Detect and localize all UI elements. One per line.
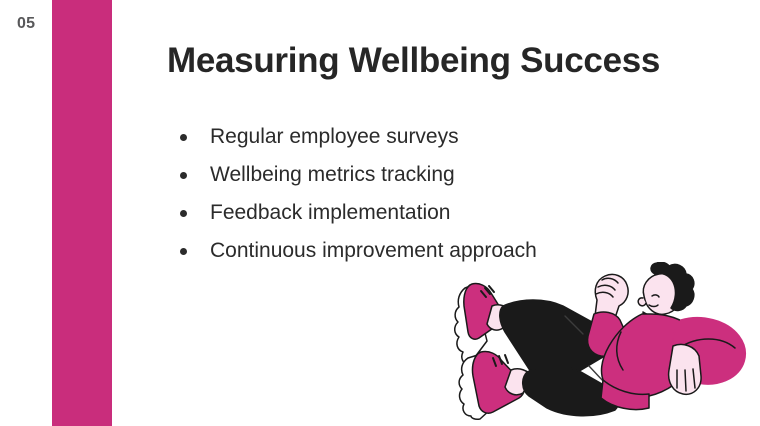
list-item-label: Regular employee surveys — [210, 125, 459, 148]
list-item: Wellbeing metrics tracking — [172, 156, 537, 194]
bullet-dot-icon — [180, 134, 187, 141]
page-title: Measuring Wellbeing Success — [167, 39, 660, 83]
list-item-label: Continuous improvement approach — [210, 239, 537, 262]
list-item: Regular employee surveys — [172, 118, 537, 156]
resting-hand — [669, 344, 701, 394]
list-item-label: Feedback implementation — [210, 201, 450, 224]
bullet-dot-icon — [180, 172, 187, 179]
bullet-dot-icon — [180, 248, 187, 255]
bullet-dot-icon — [180, 210, 187, 217]
bullet-list: Regular employee surveys Wellbeing metri… — [172, 118, 537, 270]
accent-bar — [52, 0, 112, 426]
reclining-person-illustration — [443, 262, 755, 426]
slide-canvas: 05 Measuring Wellbeing Success Regular e… — [0, 0, 760, 426]
list-item-label: Wellbeing metrics tracking — [210, 163, 455, 186]
slide-number: 05 — [17, 14, 35, 34]
list-item: Feedback implementation — [172, 194, 537, 232]
